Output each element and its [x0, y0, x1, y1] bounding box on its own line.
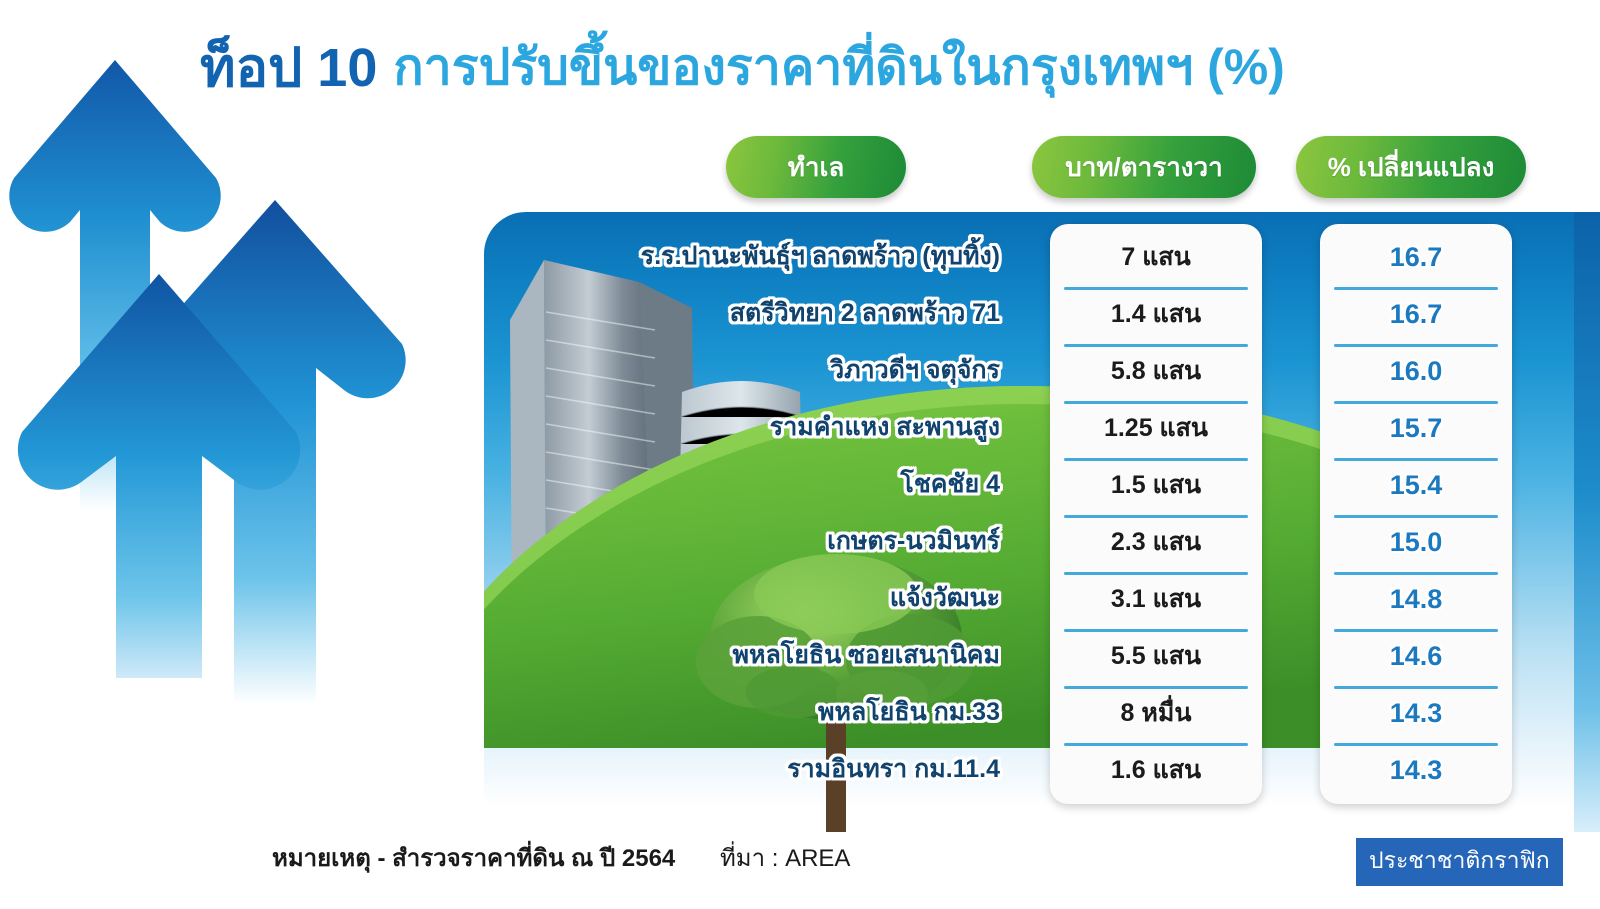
list-item: แจ้งวัฒนะ [500, 570, 1000, 627]
title-rest: การปรับขึ้นของราคาที่ดินในกรุงเทพฯ (%) [393, 28, 1284, 107]
list-item: พหลโยธิน กม.33 [500, 684, 1000, 741]
table-row: 15.7 [1320, 401, 1512, 458]
list-item: พหลโยธิน ซอยเสนานิคม [500, 627, 1000, 684]
price-value: 2.3 แสน [1111, 528, 1201, 556]
footnote-note: หมายเหตุ - สำรวจราคาที่ดิน ณ ปี 2564 [272, 845, 675, 872]
percent-value: 14.3 [1390, 698, 1443, 728]
title-highlight: ท็อป 10 [200, 24, 377, 110]
price-value: 1.25 แสน [1104, 414, 1208, 442]
percent-value: 15.4 [1390, 470, 1443, 500]
column-header-location-label: ทำเล [788, 147, 845, 188]
infographic-canvas: ท็อป 10 การปรับขึ้นของราคาที่ดินในกรุงเท… [0, 0, 1600, 909]
list-item: รามคำแหง สะพานสูง [500, 399, 1000, 456]
list-item: รามอินทรา กม.11.4 [500, 741, 1000, 798]
table-row: 7 แสน [1050, 230, 1262, 287]
brand-badge-label: ประชาชาติกราฟิก [1369, 847, 1550, 873]
table-row: 1.6 แสน [1050, 743, 1262, 800]
percent-value: 16.7 [1390, 242, 1443, 272]
table-row: 14.6 [1320, 629, 1512, 686]
percent-value: 14.6 [1390, 641, 1443, 671]
percent-value: 16.0 [1390, 356, 1443, 386]
price-value: 1.4 แสน [1111, 300, 1201, 328]
price-value: 3.1 แสน [1111, 585, 1201, 613]
price-value: 1.5 แสน [1111, 471, 1201, 499]
table-row: 1.25 แสน [1050, 401, 1262, 458]
price-value: 7 แสน [1121, 243, 1190, 271]
table-row: 16.7 [1320, 287, 1512, 344]
percent-value: 15.0 [1390, 527, 1443, 557]
list-item: โชคชัย 4 [500, 456, 1000, 513]
list-item: วิภาวดีฯ จตุจักร [500, 342, 1000, 399]
list-item: ร.ร.ปานะพันธุ์ฯ ลาดพร้าว (ทุบทิ้ง) [500, 228, 1000, 285]
list-item: เกษตร-นวมินทร์ [500, 513, 1000, 570]
brand-badge: ประชาชาติกราฟิก [1356, 838, 1563, 886]
column-header-location: ทำเล [726, 136, 906, 198]
price-value: 1.6 แสน [1111, 756, 1201, 784]
table-row: 5.5 แสน [1050, 629, 1262, 686]
table-row: 5.8 แสน [1050, 344, 1262, 401]
table-row: 15.4 [1320, 458, 1512, 515]
price-column-card: 7 แสน 1.4 แสน 5.8 แสน 1.25 แสน 1.5 แสน 2… [1050, 224, 1262, 804]
percent-value: 15.7 [1390, 413, 1443, 443]
column-header-price-label: บาท/ตารางวา [1065, 147, 1222, 188]
price-value: 5.8 แสน [1111, 357, 1201, 385]
page-title: ท็อป 10 การปรับขึ้นของราคาที่ดินในกรุงเท… [200, 24, 1440, 110]
price-value: 8 หมื่น [1121, 699, 1192, 727]
table-row: 14.3 [1320, 743, 1512, 800]
percent-column-card: 16.7 16.7 16.0 15.7 15.4 15.0 14.8 14.6 … [1320, 224, 1512, 804]
price-value: 5.5 แสน [1111, 642, 1201, 670]
table-row: 8 หมื่น [1050, 686, 1262, 743]
column-header-percent: % เปลี่ยนแปลง [1296, 136, 1526, 198]
table-row: 3.1 แสน [1050, 572, 1262, 629]
percent-value: 16.7 [1390, 299, 1443, 329]
up-arrow-icon-front [14, 266, 304, 686]
table-row: 16.7 [1320, 230, 1512, 287]
table-row: 1.5 แสน [1050, 458, 1262, 515]
list-item: สตรีวิทยา 2 ลาดพร้าว 71 [500, 285, 1000, 342]
table-row: 15.0 [1320, 515, 1512, 572]
percent-value: 14.8 [1390, 584, 1443, 614]
table-row: 1.4 แสน [1050, 287, 1262, 344]
percent-value: 14.3 [1390, 755, 1443, 785]
column-header-percent-label: % เปลี่ยนแปลง [1328, 147, 1495, 188]
column-header-price: บาท/ตารางวา [1032, 136, 1256, 198]
panel-right-edge [1574, 212, 1600, 832]
table-row: 14.3 [1320, 686, 1512, 743]
location-list: ร.ร.ปานะพันธุ์ฯ ลาดพร้าว (ทุบทิ้ง) สตรีว… [500, 228, 1018, 798]
footnote-source: ที่มา : AREA [720, 845, 850, 872]
table-row: 14.8 [1320, 572, 1512, 629]
table-row: 2.3 แสน [1050, 515, 1262, 572]
table-row: 16.0 [1320, 344, 1512, 401]
footnote: หมายเหตุ - สำรวจราคาที่ดิน ณ ปี 2564 ที่… [272, 838, 850, 877]
